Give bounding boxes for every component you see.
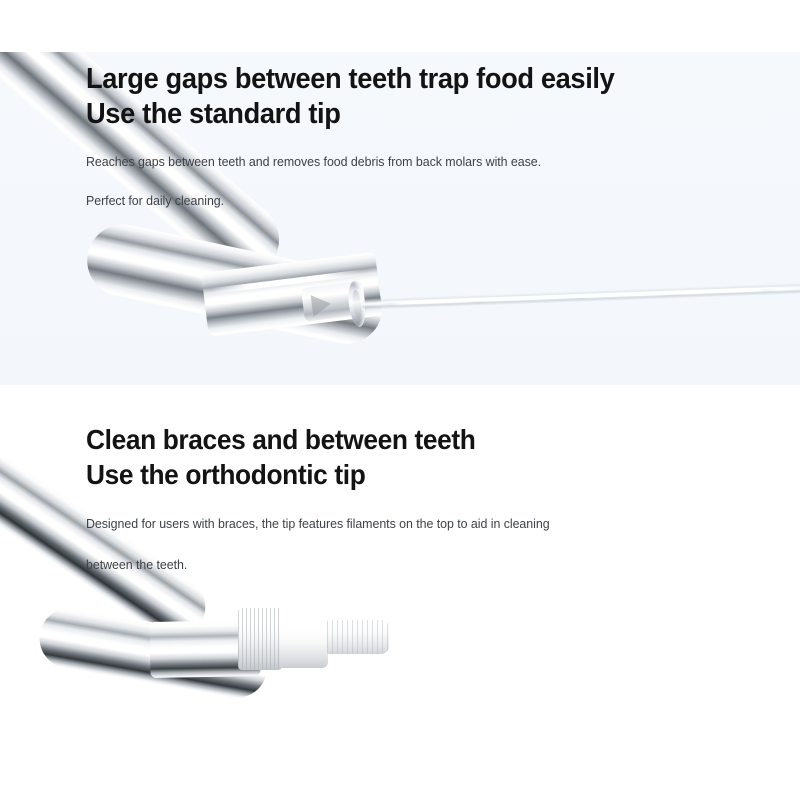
standard-tip-headline-line-2: Use the standard tip [86, 97, 614, 132]
standard-tip-body-line-2: Perfect for daily cleaning. [86, 191, 631, 210]
standard-tip-headline-line-1: Large gaps between teeth trap food easil… [86, 62, 614, 97]
standard-tip-copy: Large gaps between teeth trap food easil… [86, 62, 648, 210]
orthodontic-tip-headline-line-1: Clean braces and between teeth [86, 422, 535, 457]
orthodontic-tip-headline-line-2: Use the orthodontic tip [86, 457, 535, 492]
orthodontic-tip-body-line-2: between the teeth. [86, 555, 550, 574]
ortho-filament-tip-icon [327, 620, 389, 654]
ortho-ribbed-collar-icon [238, 608, 282, 670]
section-orthodontic-tip: Clean braces and between teeth Use the o… [0, 385, 800, 800]
product-feature-page: Large gaps between teeth trap food easil… [0, 0, 800, 800]
nozzle-inner-cone-icon [311, 293, 333, 317]
orthodontic-tip-copy: Clean braces and between teeth Use the o… [86, 422, 564, 574]
standard-tip-body-line-1: Reaches gaps between teeth and removes f… [86, 152, 631, 171]
ortho-white-sleeve-icon [280, 610, 328, 668]
section-standard-tip: Large gaps between teeth trap food easil… [0, 52, 800, 385]
orthodontic-tip-body-line-1: Designed for users with braces, the tip … [86, 514, 550, 533]
